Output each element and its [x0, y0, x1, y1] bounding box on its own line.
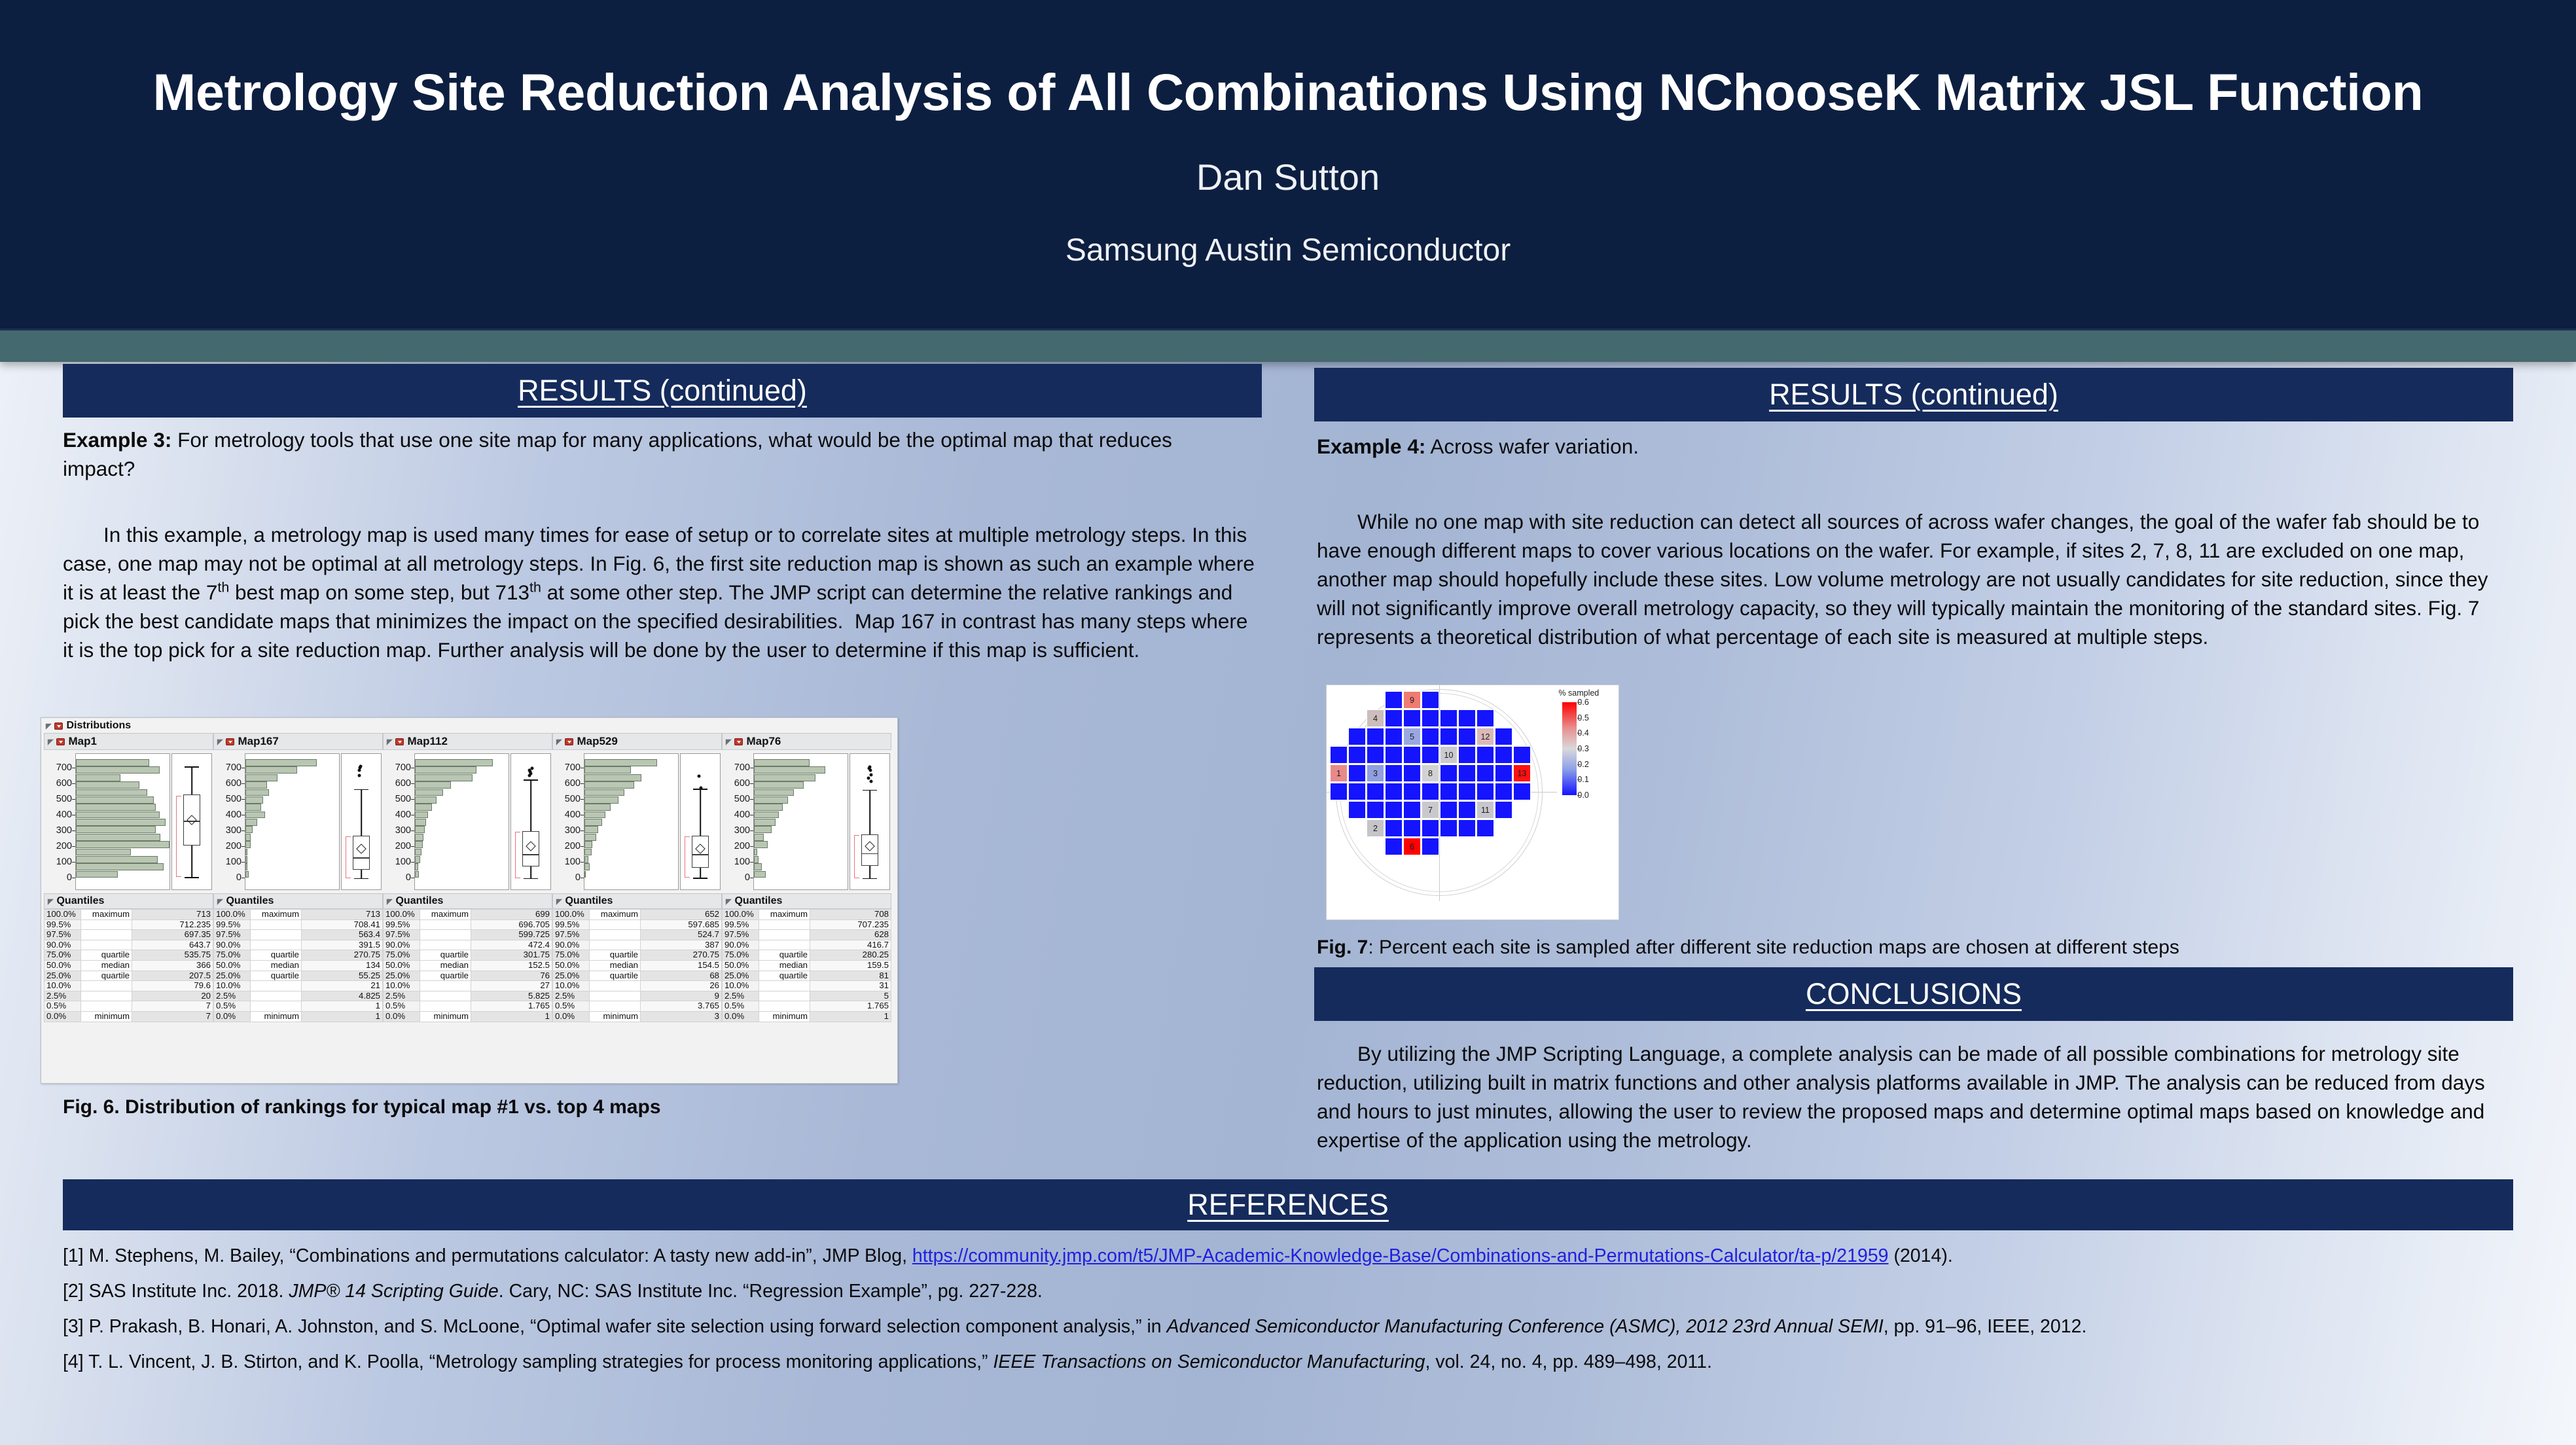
- jmp-axis-tick-label: 500: [56, 794, 72, 804]
- boxplot-outlier-point: [699, 786, 702, 789]
- wafer-site-cell: [1440, 764, 1458, 782]
- histogram-bar: [76, 796, 154, 804]
- jmp-axis-tick-label: 100: [395, 857, 411, 867]
- histogram-bar: [754, 796, 788, 804]
- quantile-percent: 99.5%: [384, 919, 420, 930]
- jmp-plot-row: 7006005004003002001000: [213, 751, 383, 891]
- wafer-site-cell-labeled: 6: [1403, 838, 1421, 855]
- histogram-bar: [415, 796, 437, 804]
- boxplot-median-line: [861, 853, 878, 855]
- disclosure-triangle-icon[interactable]: ◤: [217, 738, 223, 746]
- references-section-label: REFERENCES: [1187, 1188, 1389, 1222]
- wafer-legend: % sampled 0.60.50.40.30.20.10.0: [1556, 685, 1619, 919]
- jmp-axis-tick-label: 700: [395, 762, 411, 773]
- quantile-value: 280.25: [810, 950, 891, 961]
- quantile-name: [759, 919, 810, 930]
- histogram-bar: [754, 819, 776, 826]
- quantile-name: [81, 1001, 132, 1012]
- reference-item: [2] SAS Institute Inc. 2018. JMP® 14 Scr…: [63, 1280, 1043, 1304]
- wafer-site-cell: [1385, 728, 1403, 745]
- jmp-map-name: Map76: [746, 735, 781, 748]
- table-row: 0.5%7: [45, 1001, 213, 1012]
- quantile-percent: 100.0%: [214, 910, 251, 920]
- histogram-bar: [584, 766, 631, 774]
- table-row: 0.0%minimum1: [723, 1011, 891, 1022]
- quantile-value: 628: [810, 930, 891, 940]
- wafer-site-cell: [1458, 783, 1476, 800]
- jmp-histogram: [414, 753, 509, 890]
- red-triangle-menu-icon[interactable]: [395, 738, 404, 745]
- histogram-bar: [245, 819, 257, 826]
- red-triangle-menu-icon[interactable]: [56, 738, 65, 745]
- quantile-name: [81, 930, 132, 940]
- quantile-percent: 50.0%: [723, 960, 759, 971]
- boxplot-median-line: [353, 857, 370, 859]
- quantile-value: 7: [132, 1001, 213, 1012]
- jmp-axis-tick-label: 400: [565, 810, 581, 820]
- jmp-histogram: [245, 753, 340, 890]
- table-row: 50.0%median152.5: [384, 960, 552, 971]
- quantile-name: quartile: [81, 950, 132, 961]
- jmp-map-titlebar[interactable]: ◤Map1: [44, 733, 213, 750]
- quantile-percent: 2.5%: [214, 991, 251, 1001]
- table-row: 0.5%1: [214, 1001, 383, 1012]
- histogram-bar: [754, 781, 804, 789]
- quantile-percent: 50.0%: [384, 960, 420, 971]
- disclosure-triangle-icon[interactable]: ◤: [556, 897, 562, 906]
- quantile-percent: 0.0%: [214, 1011, 251, 1022]
- jmp-window-title: Distributions: [66, 720, 131, 732]
- table-row: 0.5%1.765: [723, 1001, 891, 1012]
- histogram-bar: [245, 789, 269, 796]
- histogram-bar: [245, 766, 297, 774]
- reference-item: [4] T. L. Vincent, J. B. Stirton, and K.…: [63, 1351, 1712, 1374]
- wafer-site-cell-labeled: 13: [1513, 764, 1531, 782]
- wafer-site-cell: [1422, 691, 1439, 709]
- quantile-name: quartile: [251, 950, 302, 961]
- quantile-percent: 0.5%: [723, 1001, 759, 1012]
- quantile-percent: 75.0%: [723, 950, 759, 961]
- disclosure-triangle-icon[interactable]: ◤: [48, 738, 53, 746]
- histogram-bar: [584, 856, 588, 863]
- quantile-percent: 2.5%: [553, 991, 590, 1001]
- quantile-name: quartile: [759, 971, 810, 981]
- table-row: 0.5%3.765: [553, 1001, 722, 1012]
- figure7-caption: Fig. 7: Percent each site is sampled aft…: [1317, 935, 2495, 960]
- jmp-axis-tick-label: 0: [67, 872, 72, 883]
- table-row: 0.0%minimum3: [553, 1011, 722, 1022]
- quantile-name: [759, 930, 810, 940]
- references-section-header: REFERENCES: [63, 1179, 2513, 1230]
- quantile-percent: 99.5%: [214, 919, 251, 930]
- quantile-value: 207.5: [132, 971, 213, 981]
- quantile-value: 55.25: [302, 971, 383, 981]
- legend-color-gradient: [1562, 702, 1577, 795]
- wafer-site-cell: [1458, 801, 1476, 819]
- quantile-name: [251, 930, 302, 940]
- quantile-percent: 0.0%: [723, 1011, 759, 1022]
- wafer-site-cell: [1440, 728, 1458, 745]
- jmp-axis-tick-label: 200: [565, 841, 581, 851]
- histogram-bar: [245, 863, 247, 870]
- right-body-paragraph: While no one map with site reduction can…: [1317, 507, 2501, 651]
- quantile-percent: 75.0%: [384, 950, 420, 961]
- table-row: 10.0%79.6: [45, 981, 213, 991]
- quantile-value: 699: [471, 910, 552, 920]
- boxplot-outlier-point: [870, 773, 873, 776]
- boxplot-outlier-point: [528, 774, 531, 777]
- poster-affiliation: Samsung Austin Semiconductor: [0, 232, 2576, 268]
- quantile-value: 707.235: [810, 919, 891, 930]
- jmp-map-panel: ◤Map767006005004003002001000◤Quantiles10…: [722, 733, 891, 1022]
- quantile-value: 387: [641, 940, 722, 950]
- legend-tick-mark: [1577, 718, 1581, 719]
- histogram-bar: [245, 796, 263, 804]
- quantile-name: [590, 930, 641, 940]
- reference-item: [3] P. Prakash, B. Honari, A. Johnston, …: [63, 1315, 2086, 1339]
- jmp-axis-tick-label: 400: [56, 810, 72, 820]
- quantile-value: 27: [471, 981, 552, 991]
- quantile-name: quartile: [420, 950, 471, 961]
- histogram-bar: [245, 774, 277, 781]
- wafer-site-cell: [1367, 728, 1384, 745]
- quantile-value: 76: [471, 971, 552, 981]
- histogram-bar: [584, 796, 618, 804]
- wafer-site-cell: [1385, 691, 1403, 709]
- wafer-site-cell: [1495, 764, 1512, 782]
- disclosure-triangle-icon[interactable]: ◤: [387, 738, 392, 746]
- jmp-quantiles-titlebar[interactable]: ◤Quantiles: [213, 893, 383, 909]
- quantile-name: [251, 991, 302, 1001]
- jmp-axis-tick-label: 300: [56, 825, 72, 836]
- boxplot-outlier-point: [359, 765, 363, 768]
- jmp-axis-tick-label: 0: [406, 872, 411, 883]
- histogram-bar: [415, 834, 423, 841]
- jmp-histogram: [584, 753, 679, 890]
- quantile-value: 643.7: [132, 940, 213, 950]
- reference-link[interactable]: https://community.jmp.com/t5/JMP-Academi…: [912, 1245, 1889, 1266]
- table-row: 90.0%416.7: [723, 940, 891, 950]
- quantile-percent: 90.0%: [384, 940, 420, 950]
- jmp-axis-tick-label: 100: [226, 857, 241, 867]
- wafer-site-cell: [1385, 746, 1403, 764]
- histogram-bar: [76, 781, 139, 789]
- wafer-site-cell: [1422, 728, 1439, 745]
- quantile-percent: 0.0%: [553, 1011, 590, 1022]
- jmp-map-titlebar[interactable]: ◤Map529: [552, 733, 722, 750]
- quantile-percent: 97.5%: [384, 930, 420, 940]
- quantile-value: 5: [810, 991, 891, 1001]
- boxplot-whisker-cap: [693, 878, 707, 879]
- wafer-site-cell-labeled: 5: [1403, 728, 1421, 745]
- jmp-map-titlebar[interactable]: ◤Map76: [722, 733, 891, 750]
- jmp-axis-tick-label: 200: [395, 841, 411, 851]
- wafer-site-cell: [1495, 746, 1512, 764]
- left-section-header-label: RESULTS (continued): [518, 374, 807, 408]
- disclosure-triangle-icon[interactable]: ◤: [726, 738, 731, 746]
- wafer-site-cell: [1348, 746, 1366, 764]
- jmp-axis-tick-label: 500: [395, 794, 411, 804]
- table-row: 75.0%quartile270.75: [553, 950, 722, 961]
- quantile-name: [420, 930, 471, 940]
- quantile-percent: 25.0%: [384, 971, 420, 981]
- quantile-percent: 75.0%: [45, 950, 81, 961]
- table-row: 0.0%minimum7: [45, 1011, 213, 1022]
- jmp-window-titlebar: ◤ Distributions: [41, 718, 897, 733]
- quantile-percent: 99.5%: [45, 919, 81, 930]
- reference-suffix: . Cary, NC: SAS Institute Inc. “Regressi…: [499, 1281, 1043, 1302]
- quantile-percent: 10.0%: [723, 981, 759, 991]
- jmp-axis-tick-label: 600: [395, 778, 411, 789]
- histogram-bar: [245, 841, 251, 848]
- wafer-site-cell: [1385, 819, 1403, 837]
- header-teal-divider: [0, 330, 2576, 362]
- disclosure-triangle-icon[interactable]: ◤: [556, 738, 562, 746]
- jmp-map-name: Map529: [577, 735, 617, 748]
- quantile-percent: 75.0%: [553, 950, 590, 961]
- histogram-bar: [584, 774, 641, 781]
- histogram-bar: [245, 759, 317, 766]
- quantile-percent: 0.5%: [553, 1001, 590, 1012]
- conclusions-section-header: CONCLUSIONS: [1314, 967, 2513, 1021]
- jmp-axis-tick-label: 0: [236, 872, 241, 883]
- table-row: 75.0%quartile535.75: [45, 950, 213, 961]
- table-row: 90.0%387: [553, 940, 722, 950]
- histogram-bar: [584, 849, 592, 856]
- jmp-axis-tick-label: 200: [56, 841, 72, 851]
- table-row: 75.0%quartile280.25: [723, 950, 891, 961]
- histogram-bar: [415, 759, 493, 766]
- wafer-map-figure[interactable]: 94512101381371126 % sampled 0.60.50.40.3…: [1326, 685, 1619, 920]
- table-row: 99.5%712.235: [45, 919, 213, 930]
- figure7-caption-label: Fig. 7: [1317, 937, 1368, 958]
- jmp-axis-tick-label: 600: [734, 778, 750, 789]
- right-example-text: Across wafer variation.: [1425, 435, 1639, 458]
- quantile-value: 3.765: [641, 1001, 722, 1012]
- quantile-percent: 0.0%: [384, 1011, 420, 1022]
- quantile-name: [590, 991, 641, 1001]
- table-row: 2.5%5.825: [384, 991, 552, 1001]
- quantile-name: [81, 940, 132, 950]
- histogram-bar: [415, 871, 419, 878]
- jmp-axis-tick-label: 100: [565, 857, 581, 867]
- quantile-value: 26: [641, 981, 722, 991]
- jmp-quantiles-titlebar[interactable]: ◤Quantiles: [383, 893, 552, 909]
- jmp-y-axis: 7006005004003002001000: [45, 753, 75, 890]
- red-triangle-menu-icon[interactable]: [565, 738, 573, 745]
- quantile-value: 1: [302, 1011, 383, 1022]
- table-row: 2.5%5: [723, 991, 891, 1001]
- quantile-value: 366: [132, 960, 213, 971]
- quantile-value: 597.685: [641, 919, 722, 930]
- jmp-quantiles-titlebar[interactable]: ◤Quantiles: [552, 893, 722, 909]
- histogram-bar: [76, 812, 160, 819]
- histogram-bar: [584, 841, 592, 848]
- quantile-value: 1: [302, 1001, 383, 1012]
- table-row: 75.0%quartile270.75: [214, 950, 383, 961]
- quantile-percent: 99.5%: [553, 919, 590, 930]
- quantile-name: [251, 981, 302, 991]
- histogram-bar: [754, 804, 783, 811]
- histogram-bar: [584, 781, 634, 789]
- red-triangle-menu-icon[interactable]: [54, 722, 63, 730]
- reference-prefix: [1] M. Stephens, M. Bailey, “Combination…: [63, 1245, 912, 1266]
- quantile-value: 416.7: [810, 940, 891, 950]
- wafer-site-cell: [1348, 728, 1366, 745]
- table-row: 25.0%quartile207.5: [45, 971, 213, 981]
- table-row: 90.0%391.5: [214, 940, 383, 950]
- jmp-axis-tick-label: 300: [734, 825, 750, 836]
- table-row: 25.0%quartile55.25: [214, 971, 383, 981]
- quantile-name: [81, 981, 132, 991]
- quantile-percent: 25.0%: [45, 971, 81, 981]
- disclosure-triangle-icon[interactable]: ◤: [217, 897, 223, 906]
- histogram-bar: [754, 826, 772, 833]
- poster-author: Dan Sutton: [0, 156, 2576, 198]
- quantile-percent: 0.5%: [214, 1001, 251, 1012]
- conclusions-paragraph: By utilizing the JMP Scripting Language,…: [1317, 1039, 2501, 1154]
- table-row: 2.5%20: [45, 991, 213, 1001]
- quantile-name: [420, 981, 471, 991]
- wafer-site-cell: [1422, 746, 1439, 764]
- table-row: 0.0%minimum1: [384, 1011, 552, 1022]
- jmp-axis-tick-label: 400: [395, 810, 411, 820]
- quantile-percent: 0.5%: [45, 1001, 81, 1012]
- boxplot-outlier-point: [869, 779, 872, 783]
- disclosure-triangle-icon[interactable]: ◤: [48, 897, 53, 906]
- red-triangle-menu-icon[interactable]: [226, 738, 234, 745]
- red-triangle-menu-icon[interactable]: [734, 738, 743, 745]
- jmp-axis-tick-label: 300: [226, 825, 241, 836]
- reference-prefix: [2] SAS Institute Inc. 2018.: [63, 1281, 289, 1302]
- jmp-boxplot: [680, 753, 721, 890]
- quantile-percent: 100.0%: [45, 910, 81, 920]
- table-row: 99.5%708.41: [214, 919, 383, 930]
- wafer-site-cell: [1403, 709, 1421, 727]
- jmp-distributions-window[interactable]: ◤ Distributions ◤Map17006005004003002001…: [41, 717, 898, 1084]
- quantile-value: 1.765: [810, 1001, 891, 1012]
- jmp-quantiles-titlebar[interactable]: ◤Quantiles: [722, 893, 891, 909]
- jmp-map-titlebar[interactable]: ◤Map167: [213, 733, 383, 750]
- quantile-percent: 100.0%: [723, 910, 759, 920]
- quantile-value: 7: [132, 1011, 213, 1022]
- quantile-name: [759, 1001, 810, 1012]
- disclosure-triangle-icon[interactable]: ◤: [46, 722, 51, 730]
- jmp-quantiles-table: 100.0%maximum71399.5%708.4197.5%563.490.…: [213, 909, 383, 1022]
- table-row: 10.0%27: [384, 981, 552, 991]
- wafer-site-cell: [1476, 819, 1494, 837]
- histogram-bar: [415, 774, 473, 781]
- table-row: 97.5%628: [723, 930, 891, 940]
- quantile-value: 563.4: [302, 930, 383, 940]
- table-row: 100.0%maximum699: [384, 910, 552, 920]
- histogram-bar: [76, 766, 160, 774]
- quantile-value: 708.41: [302, 919, 383, 930]
- wafer-site-cell: [1403, 783, 1421, 800]
- jmp-y-axis: 7006005004003002001000: [215, 753, 245, 890]
- histogram-bar: [245, 826, 253, 833]
- left-example-label: Example 3:: [63, 428, 171, 452]
- quantile-name: quartile: [81, 971, 132, 981]
- jmp-histogram: [753, 753, 848, 890]
- jmp-quantiles-title: Quantiles: [226, 895, 274, 907]
- histogram-bar: [76, 841, 170, 848]
- wafer-site-cell: [1458, 728, 1476, 745]
- jmp-axis-tick-label: 400: [226, 810, 241, 820]
- wafer-site-cell: [1495, 783, 1512, 800]
- quantile-percent: 10.0%: [384, 981, 420, 991]
- jmp-map-titlebar[interactable]: ◤Map112: [383, 733, 552, 750]
- disclosure-triangle-icon[interactable]: ◤: [726, 897, 731, 906]
- wafer-site-cell: [1385, 838, 1403, 855]
- quantile-percent: 25.0%: [723, 971, 759, 981]
- wafer-site-cell: [1385, 709, 1403, 727]
- jmp-histogram: [75, 753, 170, 890]
- boxplot-whisker-cap: [524, 779, 538, 781]
- table-row: 0.0%minimum1: [214, 1011, 383, 1022]
- quantile-percent: 2.5%: [723, 991, 759, 1001]
- boxplot-whisker-cap: [185, 877, 199, 878]
- quantile-percent: 10.0%: [45, 981, 81, 991]
- quantile-value: 712.235: [132, 919, 213, 930]
- left-example-text: For metrology tools that use one site ma…: [63, 428, 1172, 480]
- wafer-site-cell: [1422, 709, 1439, 727]
- quantile-name: quartile: [590, 971, 641, 981]
- quantile-name: maximum: [759, 910, 810, 920]
- histogram-bar: [415, 863, 418, 870]
- histogram-bar: [76, 774, 120, 781]
- quantile-value: 535.75: [132, 950, 213, 961]
- quantile-name: [590, 1001, 641, 1012]
- poster-canvas: Metrology Site Reduction Analysis of All…: [0, 0, 2576, 1445]
- disclosure-triangle-icon[interactable]: ◤: [387, 897, 392, 906]
- jmp-map-name: Map112: [407, 735, 447, 748]
- jmp-plot-row: 7006005004003002001000: [44, 751, 213, 891]
- wafer-site-cell: [1422, 783, 1439, 800]
- jmp-map-panel: ◤Map1677006005004003002001000◤Quantiles1…: [213, 733, 383, 1022]
- table-row: 100.0%maximum652: [553, 910, 722, 920]
- wafer-site-cell: [1422, 838, 1439, 855]
- histogram-bar: [584, 812, 605, 819]
- histogram-bar: [415, 781, 451, 789]
- reference-prefix: [4] T. L. Vincent, J. B. Stirton, and K.…: [63, 1351, 993, 1372]
- quantile-percent: 97.5%: [553, 930, 590, 940]
- quantile-name: [420, 940, 471, 950]
- table-row: 10.0%26: [553, 981, 722, 991]
- legend-tick-mark: [1577, 795, 1581, 796]
- histogram-bar: [584, 789, 624, 796]
- histogram-bar: [584, 871, 586, 878]
- boxplot-shortest-half-bracket: [346, 836, 351, 878]
- quantile-name: minimum: [81, 1011, 132, 1022]
- wafer-site-cell: [1476, 709, 1494, 727]
- wafer-site-cell: [1440, 709, 1458, 727]
- quantile-value: 31: [810, 981, 891, 991]
- quantile-percent: 97.5%: [45, 930, 81, 940]
- wafer-site-cell: [1403, 801, 1421, 819]
- wafer-site-cell: [1458, 764, 1476, 782]
- histogram-bar: [76, 871, 118, 878]
- quantile-name: [81, 991, 132, 1001]
- table-row: 10.0%31: [723, 981, 891, 991]
- quantile-percent: 97.5%: [723, 930, 759, 940]
- jmp-quantiles-titlebar[interactable]: ◤Quantiles: [44, 893, 213, 909]
- jmp-axis-tick-label: 100: [734, 857, 750, 867]
- wafer-site-cell: [1458, 819, 1476, 837]
- legend-tick-mark: [1577, 779, 1581, 780]
- wafer-site-cell: [1513, 783, 1531, 800]
- histogram-bar: [76, 849, 131, 856]
